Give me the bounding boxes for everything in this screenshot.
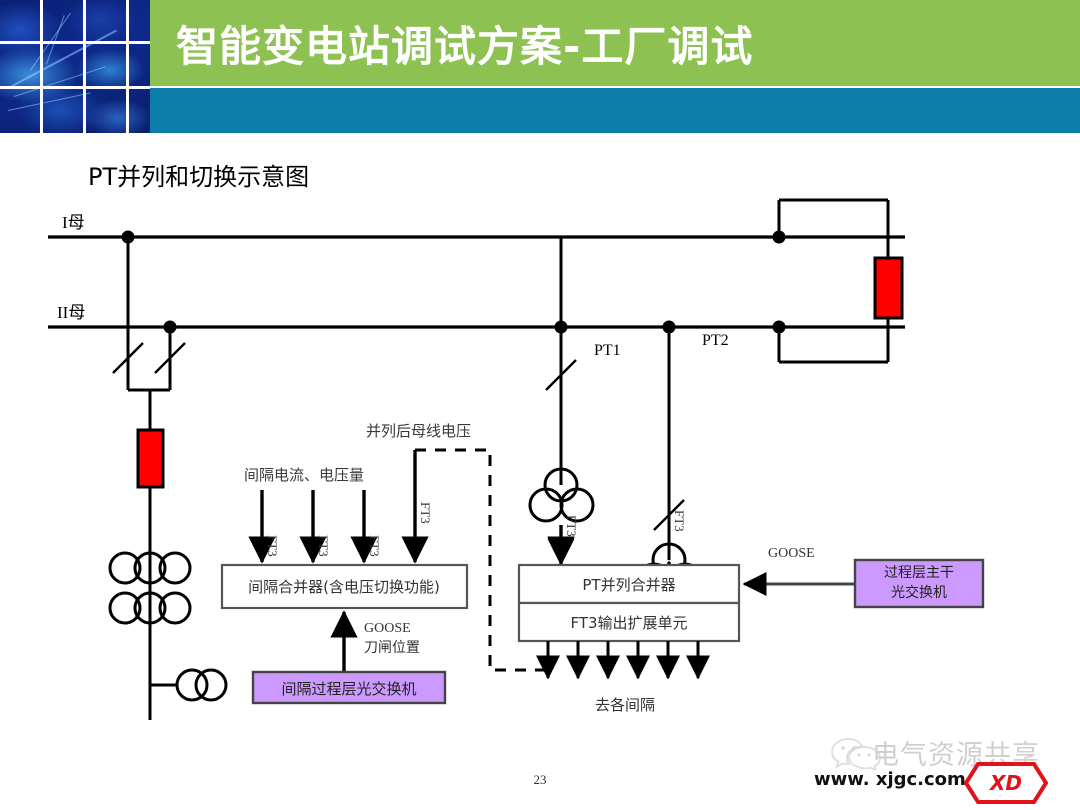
pt2-label: PT2: [702, 332, 729, 349]
goose-bottom-label-1: GOOSE: [364, 621, 411, 636]
single-line-diagram: I母 II母 PT1: [0, 140, 1080, 740]
ct-small-left: [177, 670, 226, 700]
ft3-label-6: FT3: [672, 510, 687, 532]
pt1-label: PT1: [594, 342, 621, 359]
bay-process-layer-switch-label: 间隔过程层光交换机: [281, 680, 416, 698]
header-bottom-divider: [0, 133, 1080, 136]
to-each-bay-label: 去各间隔: [595, 696, 655, 714]
ft3-output-expansion-unit-label: FT3输出扩展单元: [570, 614, 687, 632]
site-url: www. xjgc.com: [814, 769, 966, 790]
bus1-node-left: [122, 231, 135, 244]
bus-tie-circuit: [779, 200, 888, 362]
goose-right-label: GOOSE: [768, 546, 815, 561]
xd-logo-text: XD: [964, 762, 1048, 804]
parallel-bus-voltage-label: 并列后母线电压: [366, 422, 471, 440]
header-grid-line-v2: [83, 0, 86, 133]
page-title: 智能变电站调试方案-工厂调试: [176, 16, 1036, 78]
header-grid-line-h1: [0, 41, 150, 44]
ft3-label-2: FT3: [316, 535, 331, 557]
slide-header: 智能变电站调试方案-工厂调试: [0, 0, 1080, 145]
breaker-bus-tie: [875, 258, 902, 318]
busbar-2-label: II母: [57, 303, 85, 322]
bay-output-arrows: [548, 641, 698, 678]
bus2-node-left: [164, 321, 177, 334]
ft3-label-4: FT3: [418, 502, 433, 524]
footer-watermark: 电气资源共享 www. xjgc.com XD: [812, 734, 1074, 804]
header-decoration-image: [0, 0, 150, 133]
xd-logo: XD: [964, 762, 1048, 804]
ft3-label-5: FT3: [564, 515, 579, 537]
bus-tie-node-2: [773, 321, 786, 334]
header-grid-line-v3: [126, 0, 129, 133]
breaker-left: [138, 430, 163, 487]
header-blue-band: [0, 88, 1080, 133]
pt-parallel-merging-unit-label: PT并列合并器: [582, 576, 675, 594]
header-grid-line-v1: [40, 0, 43, 133]
bay-merging-unit-label: 间隔合并器(含电压切换功能): [248, 578, 440, 596]
busbars: [48, 237, 905, 327]
pt2-bus2-node: [663, 321, 676, 334]
process-layer-backbone-switch-label-2: 光交换机: [891, 584, 947, 601]
header-grid-line-h2: [0, 86, 150, 89]
goose-bottom-label-2: 刀闸位置: [364, 640, 420, 656]
pt1-bus2-node: [555, 321, 568, 334]
busbar-1-label: I母: [62, 213, 85, 232]
ft3-label-1: FT3: [265, 535, 280, 557]
ft3-label-3: FT3: [367, 535, 382, 557]
process-layer-backbone-switch-label-1: 过程层主干: [884, 565, 954, 581]
bay-current-voltage-label: 间隔电流、电压量: [244, 466, 364, 484]
bus-tie-node-1: [773, 231, 786, 244]
